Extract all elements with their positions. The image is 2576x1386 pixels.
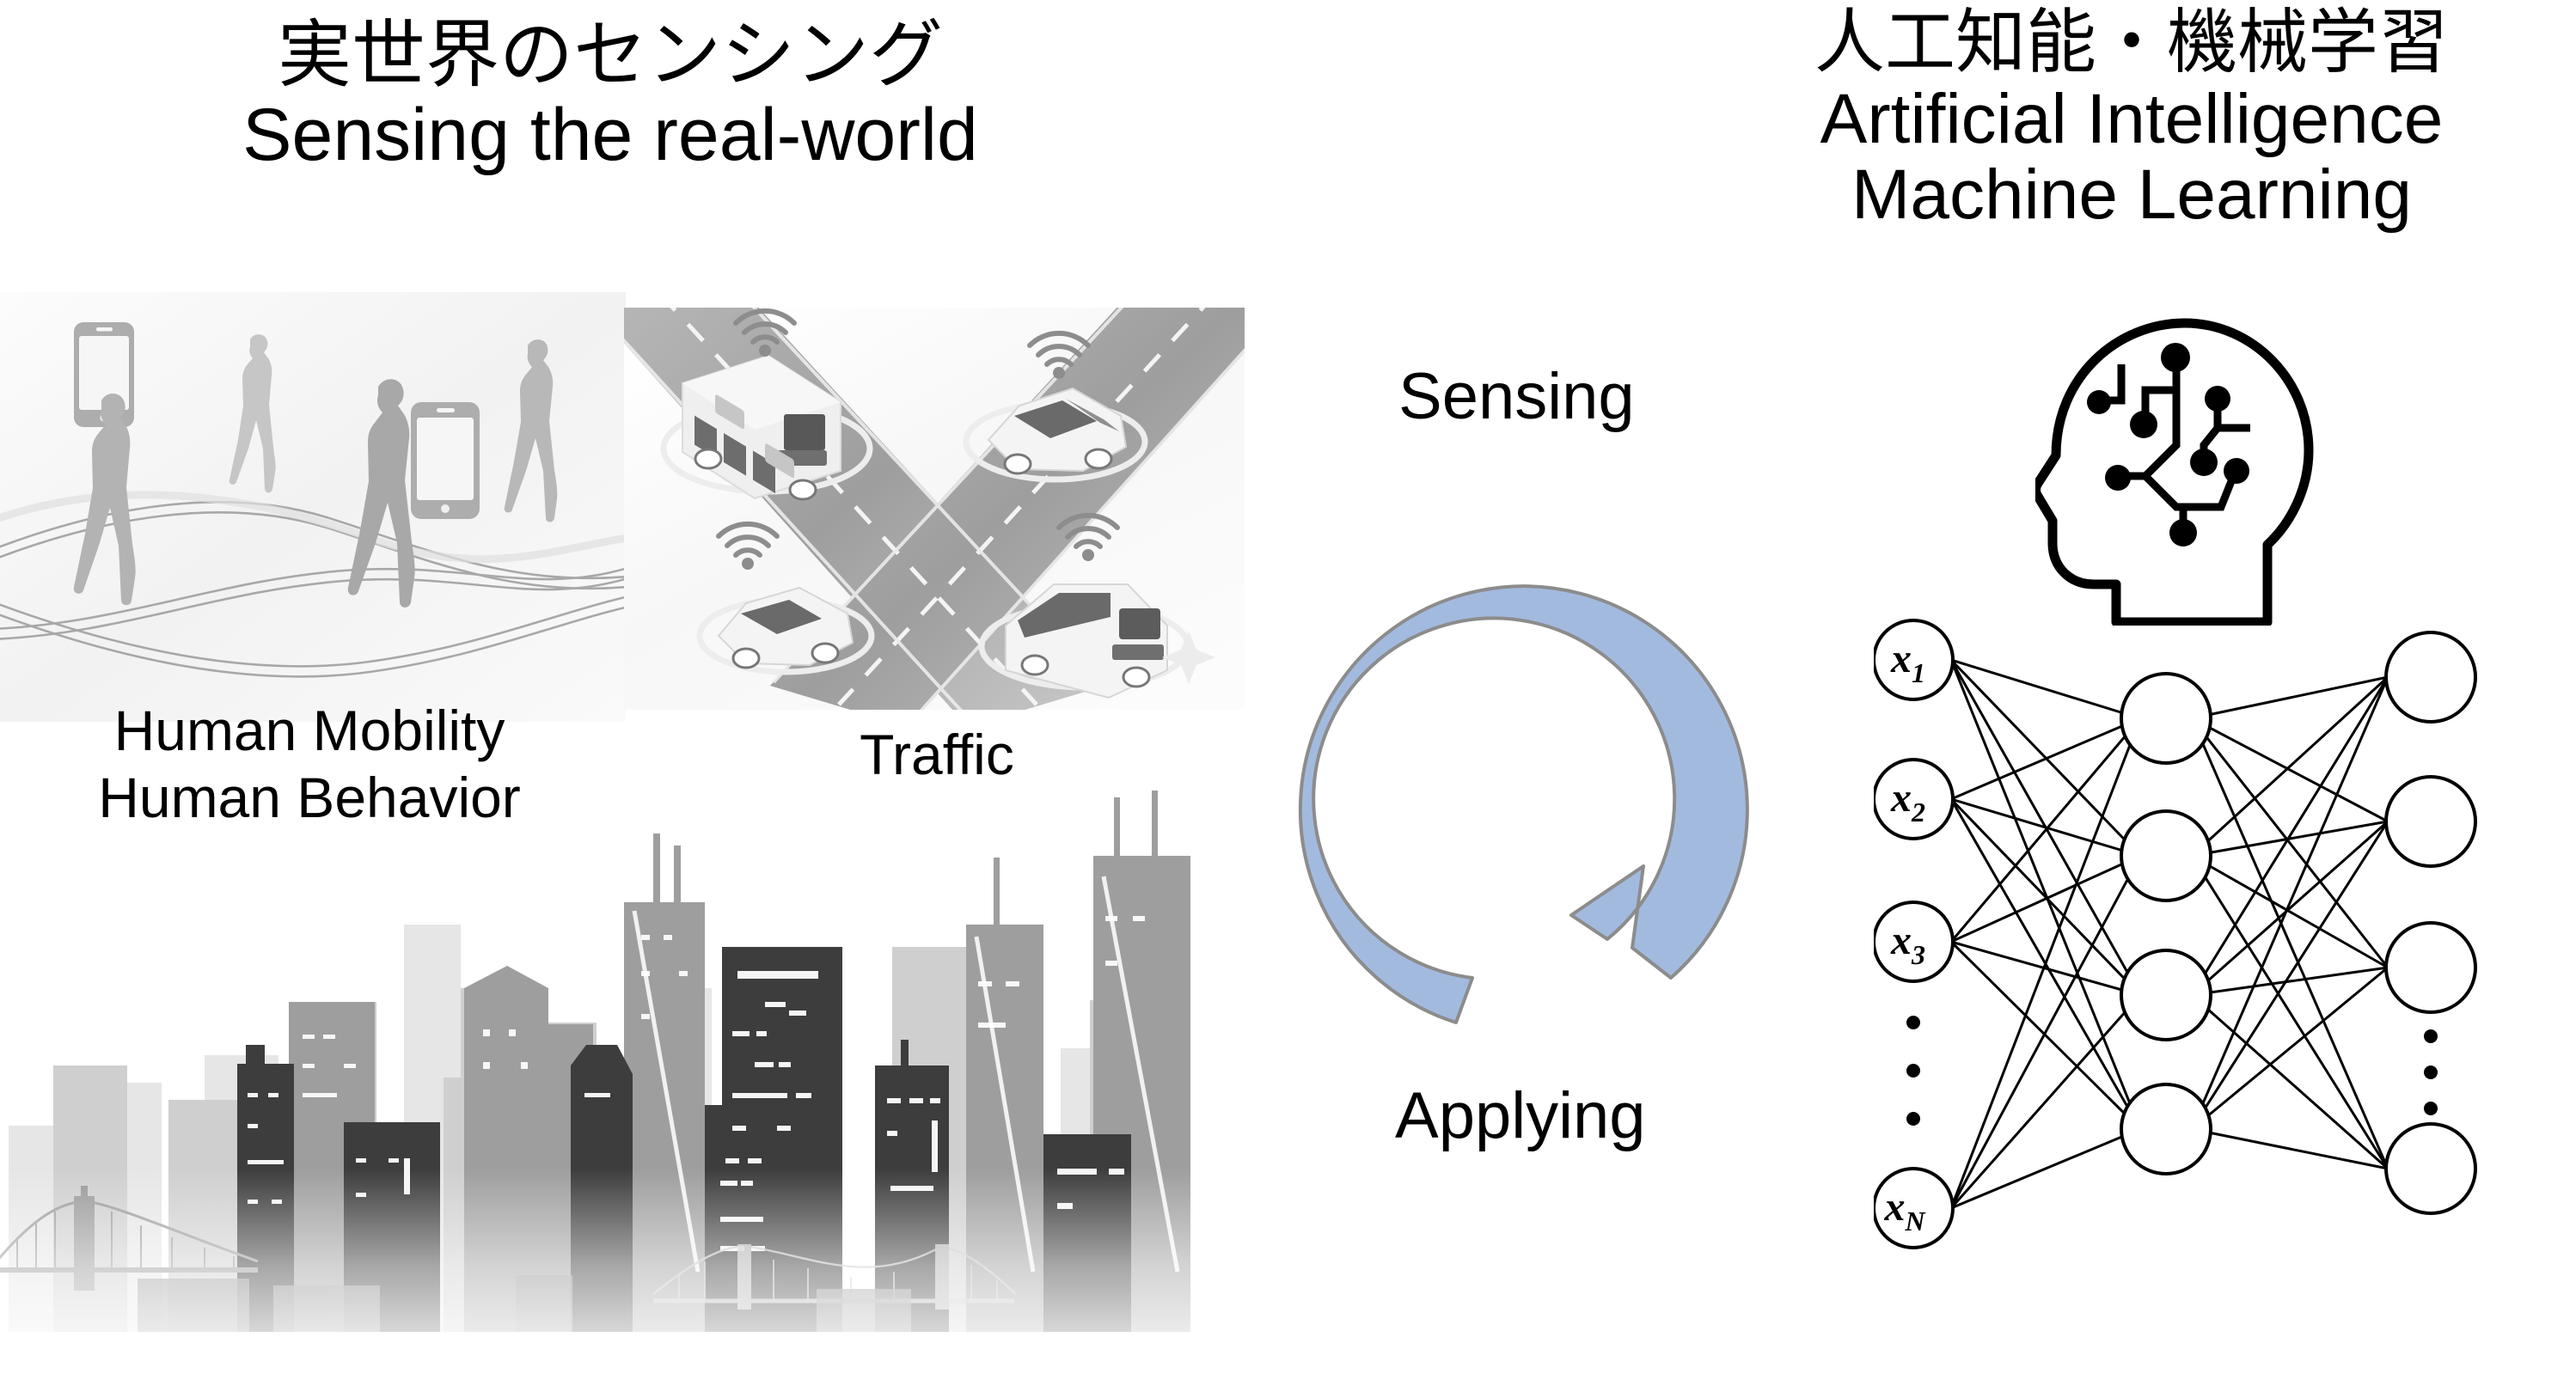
- edges-input-hidden: [1951, 660, 2140, 1208]
- left-title-japanese: 実世界のセンシング: [103, 15, 1117, 95]
- human-mobility-caption: Human Mobility Human Behavior: [34, 698, 584, 832]
- right-title-english-line1: Artificial Intelligence: [1685, 82, 2576, 158]
- circuit-traces: [2102, 359, 2250, 531]
- output-ellipsis-icon: [2424, 1029, 2438, 1115]
- hidden-layer-nodes: [2121, 674, 2211, 1174]
- neural-network-diagram: x1 x2 x3 xN: [1874, 593, 2553, 1272]
- input-layer-nodes: [1874, 620, 1953, 1248]
- ai-head-circuit-icon: [2035, 316, 2319, 626]
- cycle-sensing-label: Sensing: [1398, 359, 1635, 434]
- left-section-title: 実世界のセンシング Sensing the real-world: [103, 15, 1117, 175]
- cycle-arrow-shape: [1300, 586, 1747, 1023]
- human-mobility-image: [0, 292, 626, 722]
- output-layer-nodes: [2386, 632, 2475, 1213]
- right-title-japanese: 人工知能・機械学習: [1685, 5, 2576, 82]
- caption-line-2: Human Behavior: [34, 765, 584, 832]
- smartphone-icon: [411, 402, 480, 519]
- circuit-nodes: [2087, 343, 2249, 546]
- traffic-image: [624, 308, 1245, 710]
- edges-hidden-output: [2192, 677, 2388, 1169]
- right-title-english-line2: Machine Learning: [1685, 157, 2576, 234]
- sensing-applying-cycle-arrow: [1288, 497, 1838, 1047]
- right-section-title: 人工知能・機械学習 Artificial Intelligence Machin…: [1685, 5, 2576, 234]
- cycle-applying-label: Applying: [1395, 1078, 1646, 1153]
- input-ellipsis-icon: [1906, 1016, 1920, 1126]
- left-title-english: Sensing the real-world: [103, 95, 1117, 175]
- city-skyline-image: [0, 756, 1190, 1386]
- traffic-caption: Traffic: [748, 722, 1126, 789]
- caption-line-1: Human Mobility: [34, 698, 584, 765]
- slide-canvas: 実世界のセンシング Sensing the real-world 人工知能・機械…: [0, 0, 2576, 1386]
